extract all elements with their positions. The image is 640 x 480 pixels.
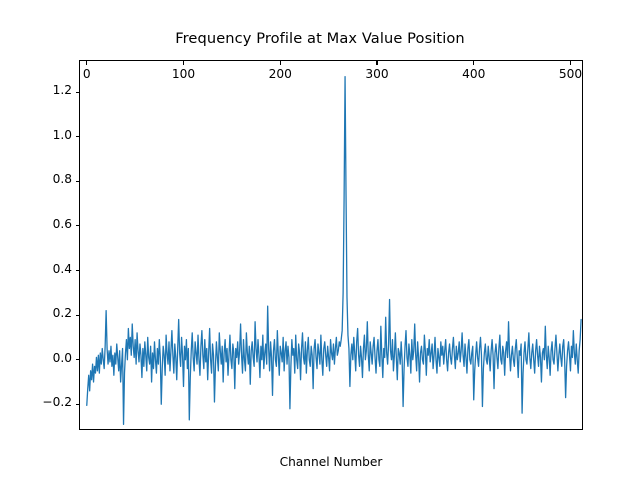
x-tick-label: 200 [240, 67, 320, 81]
y-tick-label: 0.0 [53, 351, 72, 365]
x-tick-label: 0 [47, 67, 127, 81]
x-tick-label: 300 [337, 67, 417, 81]
x-tick-mark [473, 61, 474, 65]
plot-area: −0.20.00.20.40.60.81.01.2 01002003004005… [79, 60, 583, 430]
x-tick-label: 100 [144, 67, 224, 81]
x-axis-label: Channel Number [79, 455, 583, 469]
data-line [87, 77, 581, 425]
y-tick-label: 1.2 [53, 83, 72, 97]
matplotlib-figure: Frequency Profile at Max Value Position … [0, 0, 640, 480]
y-tick-mark [76, 270, 80, 271]
y-tick-label: 1.0 [53, 128, 72, 142]
x-tick-mark [86, 61, 87, 65]
y-tick-mark [76, 404, 80, 405]
y-tick-mark [76, 136, 80, 137]
line-series-svg [80, 61, 584, 431]
y-tick-label: −0.2 [42, 395, 72, 409]
x-tick-mark [570, 61, 571, 65]
y-tick-mark [76, 181, 80, 182]
x-tick-mark [376, 61, 377, 65]
y-tick-label: 0.4 [53, 262, 72, 276]
x-tick-label: 400 [434, 67, 514, 81]
y-tick-mark [76, 315, 80, 316]
y-tick-mark [76, 225, 80, 226]
page-title: Frequency Profile at Max Value Position [0, 30, 640, 47]
x-tick-mark [280, 61, 281, 65]
y-tick-label: 0.8 [53, 172, 72, 186]
y-tick-label: 0.6 [53, 217, 72, 231]
y-tick-mark [76, 92, 80, 93]
x-tick-label: 500 [530, 67, 610, 81]
x-tick-mark [183, 61, 184, 65]
y-tick-label: 0.2 [53, 306, 72, 320]
y-tick-mark [76, 359, 80, 360]
